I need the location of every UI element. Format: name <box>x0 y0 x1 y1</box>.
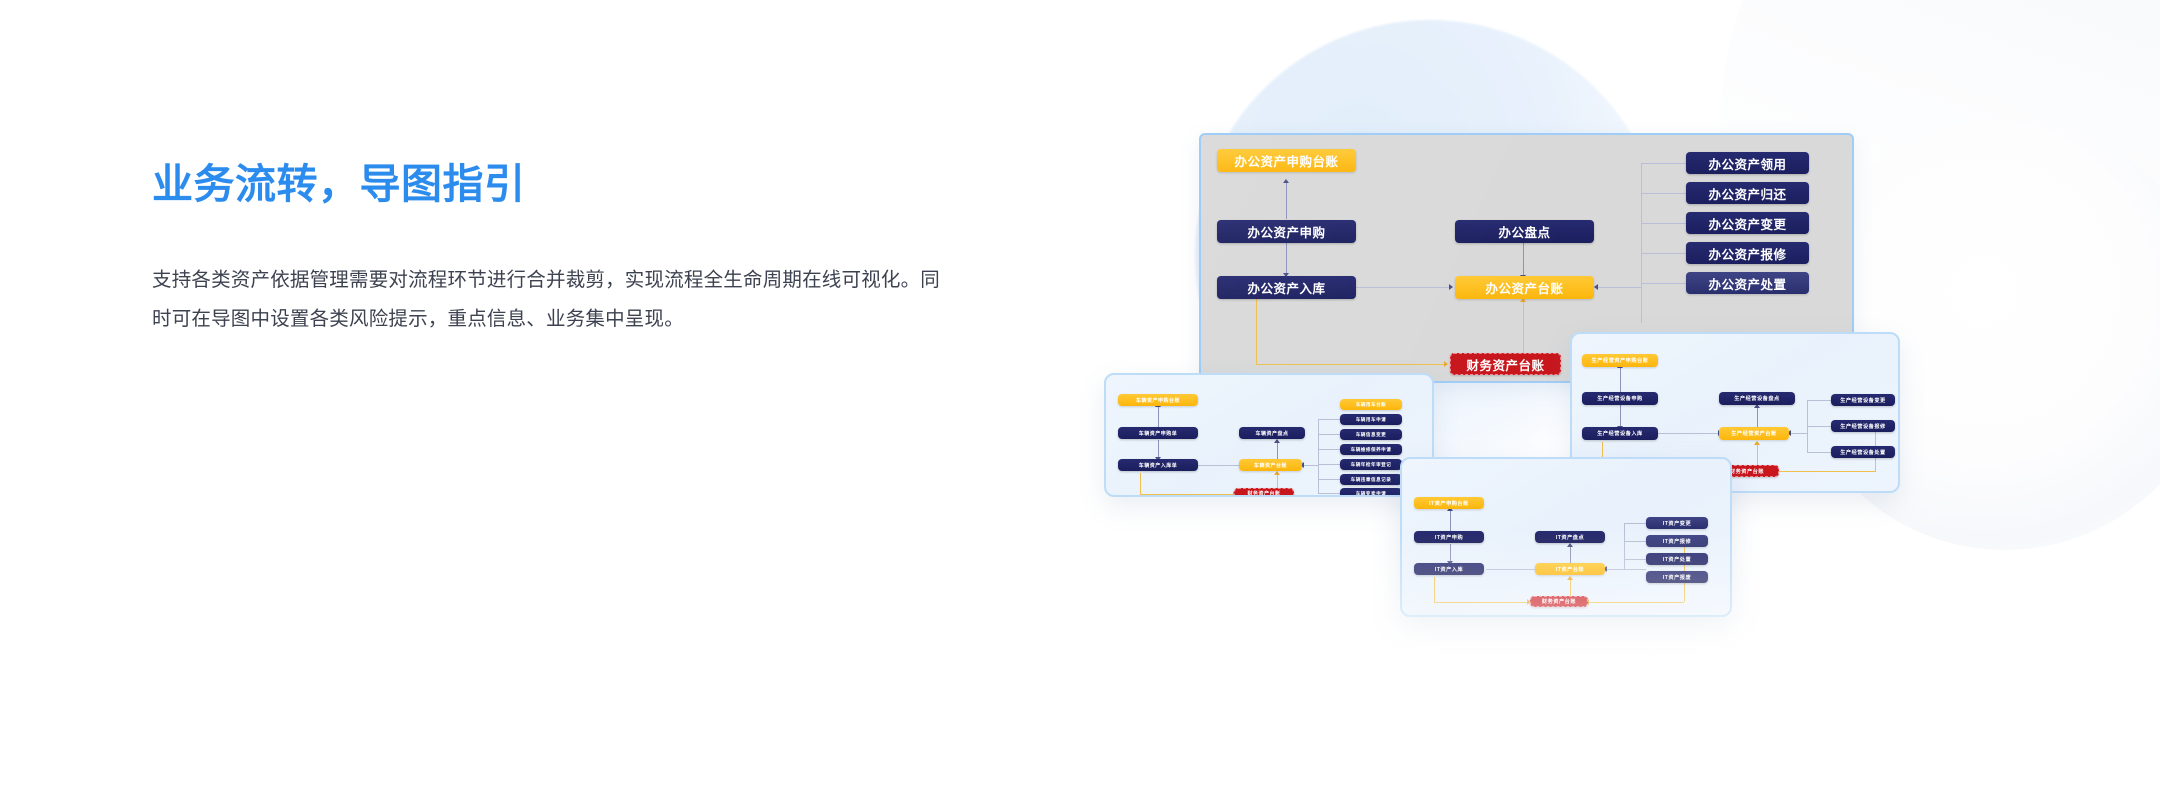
node-office-stocktake[interactable]: 办公盘点 <box>1455 220 1594 243</box>
connector-line <box>1523 241 1524 279</box>
connector-line <box>1256 299 1257 365</box>
connector-line <box>1158 405 1159 427</box>
node-vehicle-branch-2[interactable]: 车辆维修保养申请 <box>1340 444 1402 455</box>
connector-line <box>1318 449 1340 450</box>
connector-line <box>1807 452 1831 453</box>
arrow-icon <box>1274 471 1280 475</box>
connector-line <box>1641 163 1642 323</box>
node-vehicle-ledger-request[interactable]: 车辆资产申购台账 <box>1118 394 1198 406</box>
connector-line <box>1140 473 1141 495</box>
connector-line <box>1256 364 1446 365</box>
node-production-request[interactable]: 生产经营设备申购 <box>1582 392 1658 405</box>
node-vehicle-branch-0[interactable]: 车辆用车申请 <box>1340 414 1402 425</box>
node-it-branch-0[interactable]: IT资产变更 <box>1646 517 1708 529</box>
page-root: 业务流转，导图指引 支持各类资产依据管理需要对流程环节进行合并裁剪，实现流程全生… <box>0 0 2160 790</box>
connector-line <box>1523 301 1524 355</box>
connector-line <box>1318 464 1340 465</box>
node-production-branch-2[interactable]: 生产经营设备处置 <box>1831 446 1895 458</box>
arrow-icon <box>1754 441 1760 445</box>
connector-line <box>1624 523 1646 524</box>
node-production-ledger-request[interactable]: 生产经营资产申购台账 <box>1582 354 1658 367</box>
connector-line <box>1318 434 1340 435</box>
arrow-icon <box>1274 439 1280 443</box>
connector-line <box>1450 509 1451 531</box>
connector-line <box>1772 471 1875 472</box>
connector-line <box>1641 283 1686 284</box>
diagram-card-vehicle[interactable]: 车辆资产申购台账 车辆资产申购单 车辆资产入库单 车辆资产盘点 车辆资产台账 财… <box>1104 373 1434 497</box>
connector-line <box>1286 181 1287 219</box>
node-office-ledger[interactable]: 办公资产台账 <box>1455 276 1594 299</box>
node-office-branch-1[interactable]: 办公资产归还 <box>1686 182 1809 204</box>
node-vehicle-branch-1[interactable]: 车辆信息变更 <box>1340 429 1402 440</box>
node-production-stocktake[interactable]: 生产经营设备盘点 <box>1719 392 1795 405</box>
node-vehicle-branch-4[interactable]: 车辆违章信息记录 <box>1340 474 1402 485</box>
node-vehicle-stocktake[interactable]: 车辆资产盘点 <box>1239 427 1305 439</box>
connector-line <box>1192 465 1244 466</box>
connector-line <box>1620 366 1621 392</box>
node-office-branch-4[interactable]: 办公资产处置 <box>1686 272 1809 294</box>
arrow-icon <box>1449 284 1453 290</box>
node-office-branch-0[interactable]: 办公资产领用 <box>1686 152 1809 174</box>
node-vehicle-request[interactable]: 车辆资产申购单 <box>1118 427 1198 439</box>
node-office-branch-2[interactable]: 办公资产变更 <box>1686 212 1809 234</box>
node-office-finance-ledger[interactable]: 财务资产台账 <box>1450 353 1561 375</box>
node-vehicle-finance-ledger[interactable]: 财务资产台账 <box>1234 488 1294 497</box>
copy-block: 业务流转，导图指引 支持各类资产依据管理需要对流程环节进行合并裁剪，实现流程全生… <box>152 160 972 339</box>
connector-line <box>1757 444 1758 466</box>
connector-line <box>1641 163 1686 164</box>
connector-line <box>1286 239 1287 277</box>
node-production-ledger[interactable]: 生产经营资产台账 <box>1719 427 1789 440</box>
connector-line <box>1641 223 1686 224</box>
page-title: 业务流转，导图指引 <box>152 160 972 209</box>
node-vehicle-inbound[interactable]: 车辆资产入库单 <box>1118 459 1198 471</box>
connector-line <box>1318 419 1340 420</box>
node-vehicle-branch-5[interactable]: 车辆变卖申请 <box>1340 488 1402 497</box>
connector-line <box>1302 465 1319 466</box>
node-production-branch-1[interactable]: 生产经营设备报修 <box>1831 420 1895 432</box>
connector-line <box>1757 406 1758 428</box>
connector-line <box>1807 400 1831 401</box>
connector-line <box>1807 426 1831 427</box>
connector-line <box>1140 494 1235 495</box>
connector-line <box>1641 193 1686 194</box>
node-office-request[interactable]: 办公资产申购 <box>1217 220 1356 243</box>
node-production-branch-0[interactable]: 生产经营设备变更 <box>1831 394 1895 406</box>
node-office-ledger-request[interactable]: 办公资产申购台账 <box>1217 149 1356 172</box>
node-office-inbound[interactable]: 办公资产入库 <box>1217 276 1356 299</box>
node-production-inbound[interactable]: 生产经营设备入库 <box>1582 427 1658 440</box>
page-description: 支持各类资产依据管理需要对流程环节进行合并裁剪，实现流程全生命周期在线可视化。同… <box>152 261 952 339</box>
connector-line <box>1652 433 1720 434</box>
bottom-fade <box>0 530 2160 790</box>
arrow-icon <box>1283 179 1289 183</box>
node-vehicle-ledger[interactable]: 车辆资产台账 <box>1239 459 1302 471</box>
node-it-ledger-request[interactable]: IT资产申购台账 <box>1414 497 1484 509</box>
connector-line <box>1641 253 1686 254</box>
node-vehicle-branch-ledger[interactable]: 车辆用车台账 <box>1340 399 1402 410</box>
connector-line <box>1318 419 1319 493</box>
arrow-icon <box>1444 361 1448 367</box>
connector-line <box>1277 441 1278 460</box>
connector-line <box>1318 493 1340 494</box>
node-office-branch-3[interactable]: 办公资产报修 <box>1686 242 1809 264</box>
node-vehicle-branch-3[interactable]: 车辆年检年审登记 <box>1340 459 1402 470</box>
arrow-icon <box>1594 284 1598 290</box>
connector-line <box>1789 433 1808 434</box>
connector-line <box>1596 287 1642 288</box>
connector-line <box>1318 479 1340 480</box>
